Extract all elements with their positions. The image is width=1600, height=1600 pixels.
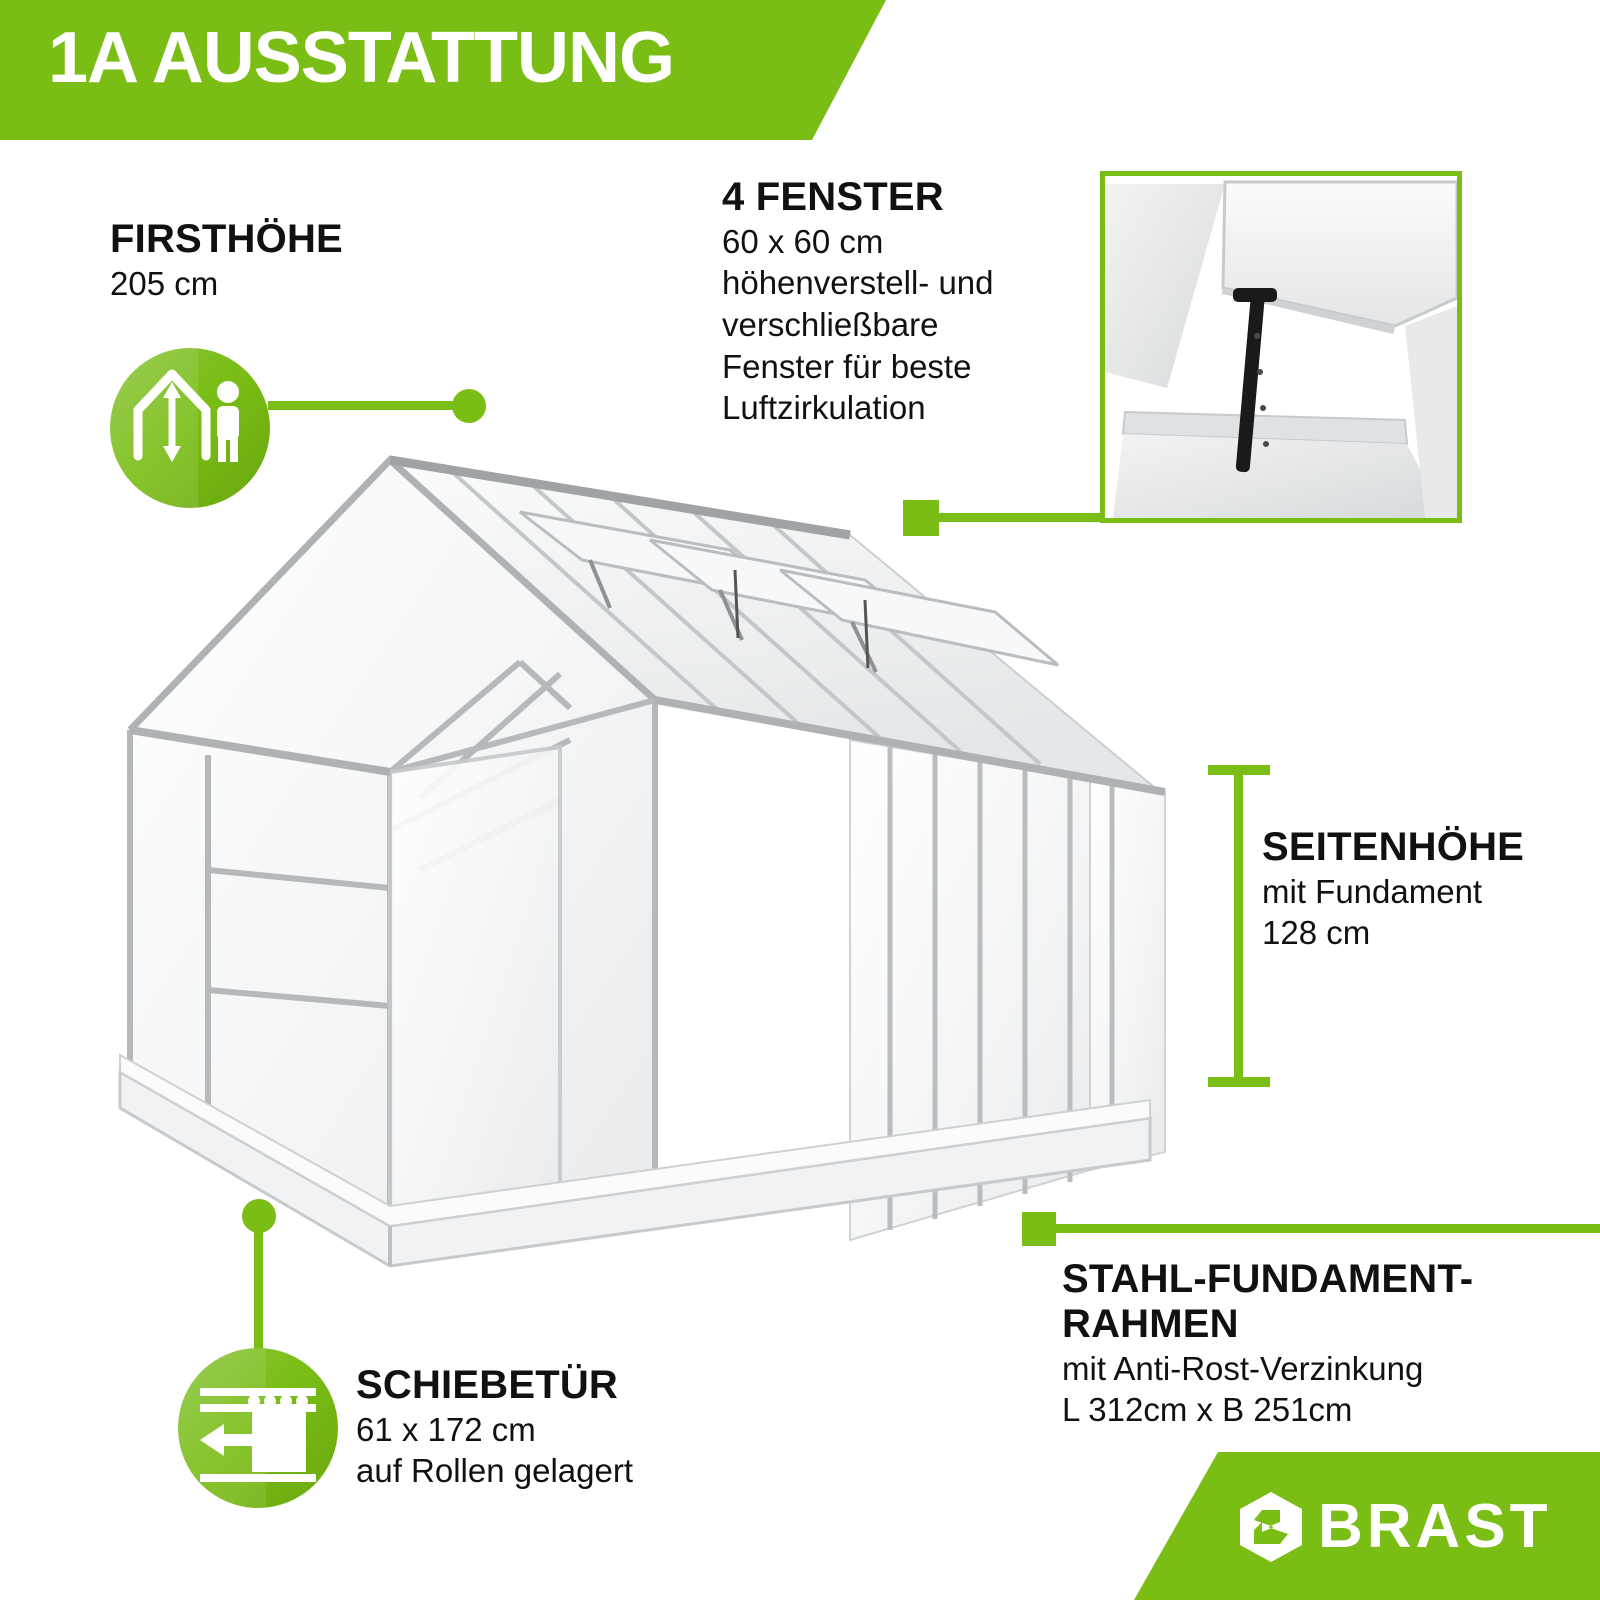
steel-base-title-line-1: STAHL-FUNDAMENT- — [1062, 1258, 1582, 1301]
connector-line-windows — [937, 513, 1102, 522]
connector-line-sliding-door — [254, 1215, 263, 1367]
connector-dot-ridge-height — [452, 389, 486, 423]
side-height-line-1: mit Fundament — [1262, 871, 1592, 913]
connector-line-ridge-height — [268, 401, 474, 410]
connector-square-steel-base — [1022, 1212, 1056, 1246]
sliding-door-line-1: 61 x 172 cm — [356, 1409, 816, 1451]
side-height-line-2: 128 cm — [1262, 912, 1592, 954]
ridge-height-title: FIRSTHÖHE — [110, 218, 530, 261]
callout-steel-base: STAHL-FUNDAMENT- RAHMEN mit Anti-Rost-Ve… — [1062, 1258, 1582, 1431]
steel-base-line-2: L 312cm x B 251cm — [1062, 1389, 1582, 1431]
dimension-line-side-height — [1234, 765, 1243, 1087]
windows-title: 4 FENSTER — [722, 176, 1072, 219]
house-height-person-icon — [110, 348, 270, 508]
callout-ridge-height: FIRSTHÖHE 205 cm — [110, 218, 530, 304]
callout-sliding-door: SCHIEBETÜR 61 x 172 cm auf Rollen gelage… — [356, 1364, 816, 1492]
steel-base-title-line-2: RAHMEN — [1062, 1303, 1582, 1346]
ridge-height-value: 205 cm — [110, 263, 530, 305]
windows-line-2: höhenverstell- und — [722, 262, 1072, 304]
sliding-door-icon — [178, 1348, 338, 1508]
windows-line-5: Luftzirkulation — [722, 387, 1072, 429]
steel-base-line-1: mit Anti-Rost-Verzinkung — [1062, 1348, 1582, 1390]
connector-line-steel-base — [1054, 1224, 1600, 1233]
side-height-title: SEITENHÖHE — [1262, 826, 1592, 869]
connector-square-windows — [903, 500, 939, 536]
brand-bar: BRAST — [1096, 1452, 1600, 1600]
brand-name: BRAST — [1318, 1496, 1552, 1558]
callout-side-height: SEITENHÖHE mit Fundament 128 cm — [1262, 826, 1592, 954]
sliding-door-title: SCHIEBETÜR — [356, 1364, 816, 1407]
callout-windows: 4 FENSTER 60 x 60 cm höhenverstell- und … — [722, 176, 1072, 429]
dimension-cap-top-side-height — [1208, 765, 1270, 775]
greenhouse-product-image — [90, 400, 1210, 1300]
sliding-door-line-2: auf Rollen gelagert — [356, 1450, 816, 1492]
roof-window-detail-photo — [1100, 171, 1462, 523]
page-title: 1A AUSSTATTUNG — [48, 22, 674, 94]
header-banner: 1A AUSSTATTUNG — [0, 0, 900, 140]
windows-line-1: 60 x 60 cm — [722, 221, 1072, 263]
sliding-door-panel — [386, 747, 568, 1260]
brast-hexagon-logo-icon — [1236, 1490, 1306, 1564]
windows-line-3: verschließbare — [722, 304, 1072, 346]
windows-line-4: Fenster für beste — [722, 346, 1072, 388]
dimension-cap-bottom-side-height — [1208, 1077, 1270, 1087]
